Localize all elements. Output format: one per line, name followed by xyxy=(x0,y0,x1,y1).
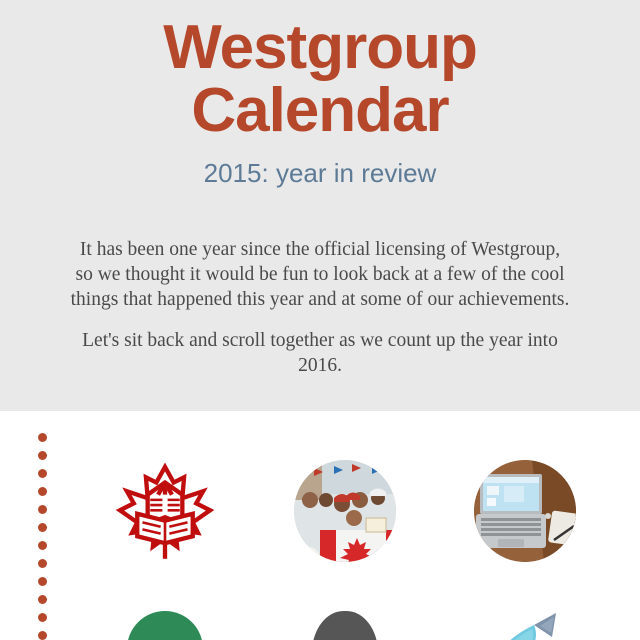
group-photo-image xyxy=(294,460,396,562)
title-line-2: Calendar xyxy=(0,79,640,142)
timeline-dotted-line xyxy=(37,433,48,640)
timeline-dot xyxy=(38,577,47,586)
rocket-icon xyxy=(480,611,570,640)
timeline-dot xyxy=(38,433,47,442)
tile-group-photo[interactable] xyxy=(255,460,435,562)
laptop-photo-thumbnail xyxy=(474,460,576,562)
green-circle-icon xyxy=(127,611,203,640)
hero-section: Westgroup Calendar 2015: year in review … xyxy=(0,0,640,411)
gray-shape-icon xyxy=(312,611,378,640)
timeline-dot xyxy=(38,541,47,550)
page-title: Westgroup Calendar xyxy=(0,16,640,142)
tile-green-circle[interactable] xyxy=(75,611,255,640)
timeline-dot xyxy=(38,613,47,622)
page-subtitle: 2015: year in review xyxy=(0,158,640,189)
group-photo-thumbnail xyxy=(294,460,396,562)
tile-maple-leaf-logo[interactable] xyxy=(75,460,255,562)
tile-laptop-photo[interactable] xyxy=(435,460,615,562)
tile-row-1 xyxy=(75,460,625,562)
timeline-dot xyxy=(38,505,47,514)
timeline-dot xyxy=(38,469,47,478)
timeline-section xyxy=(0,411,640,640)
maple-leaf-logo-icon xyxy=(113,460,217,564)
intro-copy: It has been one year since the official … xyxy=(70,238,570,379)
timeline-dot xyxy=(38,631,47,640)
tile-rocket[interactable] xyxy=(435,611,615,640)
laptop-photo-image xyxy=(474,460,576,562)
timeline-dot xyxy=(38,595,47,604)
tile-row-2 xyxy=(75,611,625,640)
tile-gray-shape[interactable] xyxy=(255,611,435,640)
title-line-1: Westgroup xyxy=(163,13,477,82)
infographic-page: Westgroup Calendar 2015: year in review … xyxy=(0,0,640,640)
intro-paragraph-2: Let's sit back and scroll together as we… xyxy=(70,329,570,379)
timeline-dot xyxy=(38,559,47,568)
timeline-dot xyxy=(38,451,47,460)
rocket-illustration xyxy=(480,611,570,640)
timeline-dot xyxy=(38,523,47,532)
intro-paragraph-1: It has been one year since the official … xyxy=(70,238,570,312)
timeline-dot xyxy=(38,487,47,496)
